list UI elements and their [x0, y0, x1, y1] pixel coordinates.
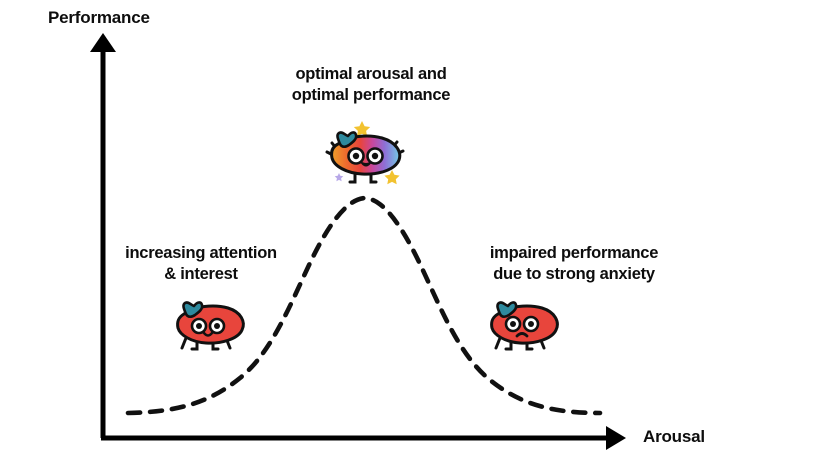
x-axis [101, 426, 626, 450]
annotation-increasing-attention: increasing attention & interest [105, 243, 297, 285]
annotation-impaired-line2: due to strong anxiety [470, 264, 678, 285]
annotation-increasing-line1: increasing attention [105, 243, 297, 264]
calm-chili-icon [166, 288, 250, 360]
excited-rainbow-chili-icon [318, 114, 410, 194]
annotation-optimal-line2: optimal performance [252, 85, 490, 106]
mouth [362, 163, 370, 166]
y-axis [90, 33, 116, 438]
yerkes-dodson-figure: Performance Arousal optimal ar [0, 0, 828, 462]
annotation-optimal-line1: optimal arousal and [252, 64, 490, 85]
anxious-chili-icon [480, 288, 564, 360]
annotation-impaired-performance: impaired performance due to strong anxie… [470, 243, 678, 285]
annotation-increasing-line2: & interest [105, 264, 297, 285]
annotation-impaired-line1: impaired performance [470, 243, 678, 264]
annotation-optimal-arousal: optimal arousal and optimal performance [252, 64, 490, 106]
